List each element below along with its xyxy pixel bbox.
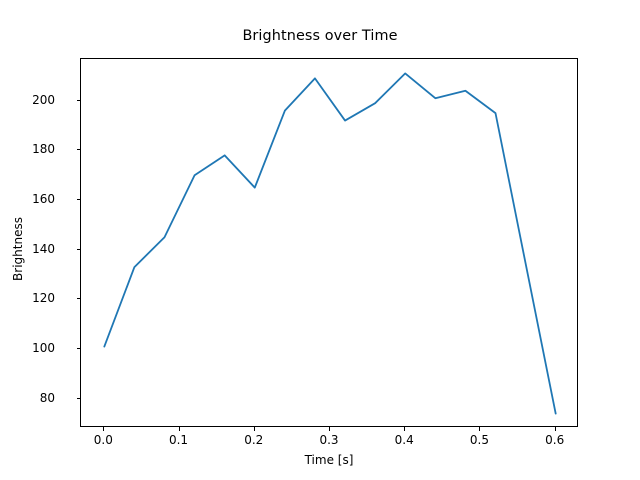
x-tick-label: 0.3	[299, 433, 359, 447]
x-tick-label: 0.0	[73, 433, 133, 447]
x-tick-mark	[254, 427, 255, 431]
x-tick-mark	[555, 427, 556, 431]
x-tick-mark	[103, 427, 104, 431]
line-series-svg	[81, 59, 579, 428]
x-tick-label: 0.2	[224, 433, 284, 447]
x-tick-label: 0.1	[149, 433, 209, 447]
brightness-line	[104, 73, 555, 413]
y-tick-label: 100	[0, 341, 55, 355]
y-tick-mark	[77, 149, 81, 150]
y-tick-mark	[77, 199, 81, 200]
x-tick-label: 0.5	[449, 433, 509, 447]
y-tick-label: 140	[0, 242, 55, 256]
y-tick-label: 80	[0, 391, 55, 405]
y-tick-label: 160	[0, 192, 55, 206]
y-tick-mark	[77, 398, 81, 399]
y-tick-mark	[77, 100, 81, 101]
y-tick-mark	[77, 348, 81, 349]
x-tick-mark	[329, 427, 330, 431]
plot-axes-area	[80, 58, 578, 427]
x-axis-label: Time [s]	[80, 453, 578, 467]
x-tick-mark	[404, 427, 405, 431]
y-tick-label: 120	[0, 291, 55, 305]
y-tick-mark	[77, 249, 81, 250]
chart-title: Brightness over Time	[0, 28, 640, 44]
y-axis-label: Brightness	[11, 169, 25, 329]
x-tick-label: 0.4	[374, 433, 434, 447]
x-tick-label: 0.6	[525, 433, 585, 447]
y-tick-label: 200	[0, 93, 55, 107]
y-tick-mark	[77, 298, 81, 299]
x-tick-mark	[179, 427, 180, 431]
y-tick-label: 180	[0, 142, 55, 156]
figure-canvas: Brightness over Time 8010012014016018020…	[0, 0, 640, 480]
x-tick-mark	[479, 427, 480, 431]
